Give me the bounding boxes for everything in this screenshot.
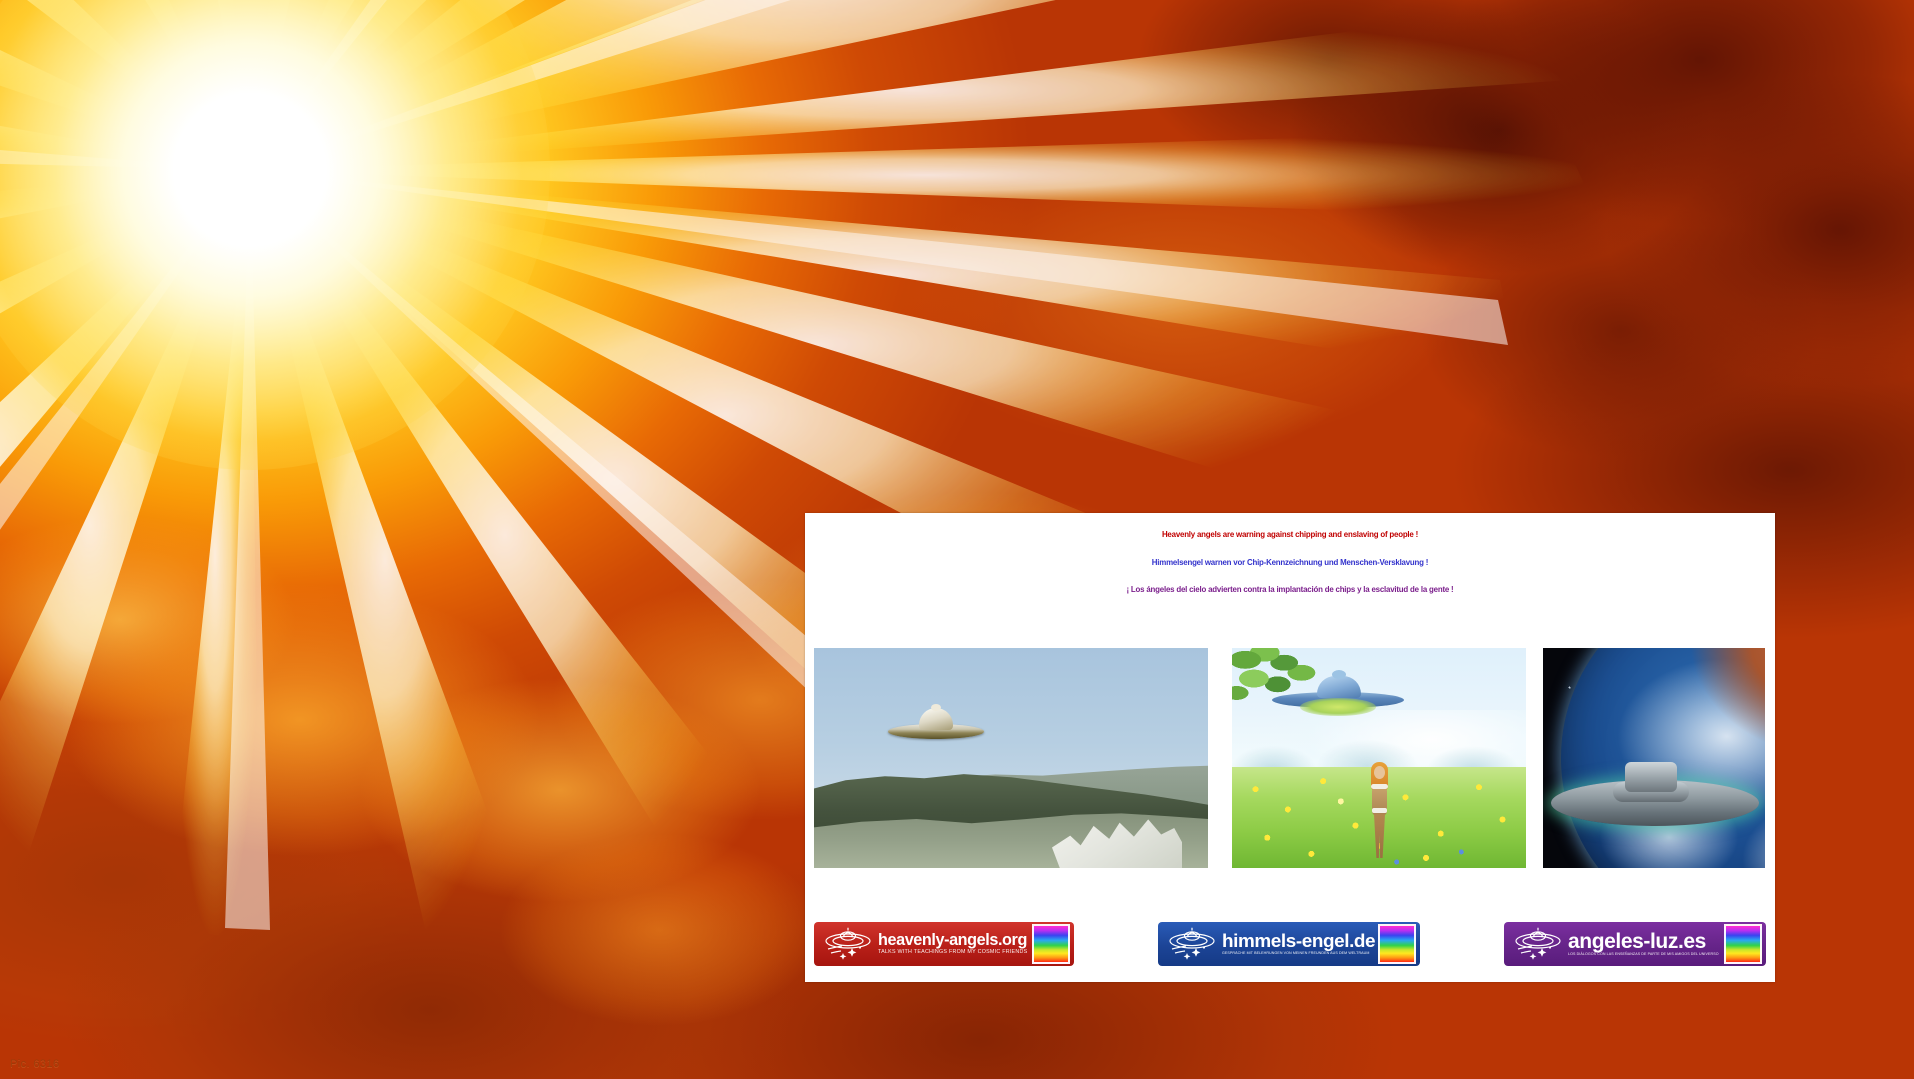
logo-himmels-engel[interactable]: himmels-engel.de GESPRÄCHE MIT BELEHRUNG… (1158, 922, 1420, 966)
photo1-ufo-icon (888, 704, 984, 744)
photo1-ufo-knob (931, 704, 941, 711)
info-panel: Heavenly angels are warning against chip… (805, 513, 1775, 982)
photo-woman-in-meadow (1232, 648, 1526, 868)
photo3-craft-upper-hub (1625, 762, 1677, 792)
image-canvas: Heavenly angels are warning against chip… (0, 0, 1914, 1079)
photo2-ufo-dome (1317, 676, 1361, 698)
logo-tagline: LOS DIÁLOGOS CON LAS ENSEÑANZAS DE PARTE… (1568, 953, 1721, 957)
logo-tagline: GESPRÄCHE MIT BELEHRUNGEN VON MEINEN FRE… (1222, 952, 1375, 956)
photo2-woman-figure (1364, 762, 1394, 858)
ufo-icon (1166, 927, 1218, 961)
logo-domain: heavenly-angels.org (878, 932, 1029, 949)
logo-text-block: heavenly-angels.org TALKS WITH TEACHINGS… (878, 932, 1029, 955)
photo2-ufo-top (1332, 670, 1346, 679)
logo-text-block: himmels-engel.de GESPRÄCHE MIT BELEHRUNG… (1222, 932, 1375, 956)
photo-ufo-over-hills (814, 648, 1208, 868)
photo2-woman-belt (1372, 808, 1387, 813)
picture-caption: Pic. 6316 (10, 1058, 59, 1070)
rainbow-square-icon (1378, 924, 1416, 964)
photo1-ufo-dome (919, 708, 953, 730)
ufo-icon (822, 927, 874, 961)
logo-bar: heavenly-angels.org TALKS WITH TEACHINGS… (814, 920, 1766, 968)
headline-spanish: ¡ Los ángeles del cielo advierten contra… (805, 586, 1775, 594)
rainbow-square-icon (1724, 924, 1762, 964)
photo2-woman-collar (1371, 784, 1388, 789)
logo-text-block: angeles-luz.es LOS DIÁLOGOS CON LAS ENSE… (1568, 931, 1721, 957)
logo-domain: angeles-luz.es (1568, 931, 1721, 952)
logo-tagline: TALKS WITH TEACHINGS FROM MY COSMIC FRIE… (878, 950, 1029, 956)
photo3-craft (1551, 758, 1759, 832)
photo2-woman-head (1374, 766, 1385, 779)
logo-heavenly-angels[interactable]: heavenly-angels.org TALKS WITH TEACHINGS… (814, 922, 1074, 966)
photo-craft-over-earth (1543, 648, 1765, 868)
ufo-icon (1512, 927, 1564, 961)
photo2-ufo-glow (1300, 698, 1376, 716)
headline-english: Heavenly angels are warning against chip… (805, 531, 1775, 539)
headline-german: Himmelsengel warnen vor Chip-Kennzeichnu… (805, 559, 1775, 567)
photo2-ufo-icon (1272, 670, 1404, 718)
photo-row (814, 648, 1766, 868)
logo-domain: himmels-engel.de (1222, 932, 1375, 951)
rainbow-square-icon (1032, 924, 1070, 964)
logo-angeles-luz[interactable]: angeles-luz.es LOS DIÁLOGOS CON LAS ENSE… (1504, 922, 1766, 966)
photo2-woman-legs (1374, 814, 1385, 858)
